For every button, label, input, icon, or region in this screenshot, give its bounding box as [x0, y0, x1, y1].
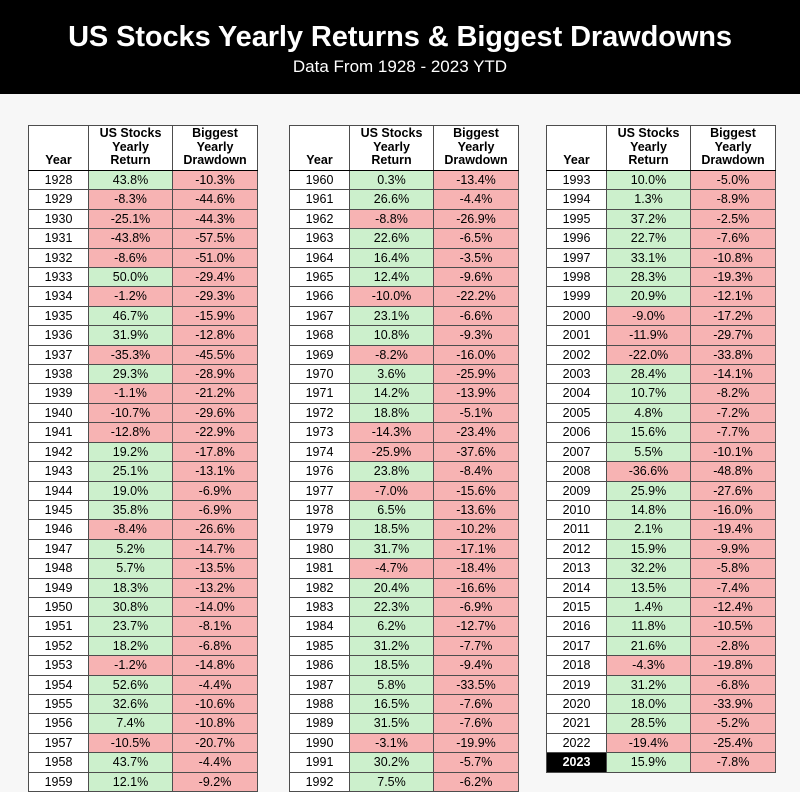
column-header-return: US Stocks Yearly Return: [350, 126, 434, 171]
tables-area: Year US Stocks Yearly Return Biggest Yea…: [0, 94, 800, 768]
cell-yearly-return: -36.6%: [607, 462, 691, 481]
page-subtitle: Data From 1928 - 2023 YTD: [293, 58, 507, 77]
cell-yearly-return: -1.2%: [89, 656, 173, 675]
cell-yearly-return: 30.8%: [89, 597, 173, 616]
table-row: 1941-12.8%-22.9%: [29, 423, 258, 442]
cell-biggest-drawdown: -29.3%: [173, 287, 258, 306]
table-row: 1953-1.2%-14.8%: [29, 656, 258, 675]
cell-biggest-drawdown: -57.5%: [173, 229, 258, 248]
cell-yearly-return: 43.8%: [89, 171, 173, 190]
table-row: 1931-43.8%-57.5%: [29, 229, 258, 248]
cell-year: 1954: [29, 675, 89, 694]
table-row: 19567.4%-10.8%: [29, 714, 258, 733]
table-row: 199920.9%-12.1%: [547, 287, 776, 306]
table-row: 194325.1%-13.1%: [29, 462, 258, 481]
column-header-drawdown-line3: Drawdown: [183, 153, 246, 167]
returns-table-panel-2: Year US Stocks Yearly Return Biggest Yea…: [546, 125, 776, 773]
cell-yearly-return: 23.8%: [350, 462, 434, 481]
table-row: 194219.2%-17.8%: [29, 442, 258, 461]
cell-biggest-drawdown: -14.1%: [691, 365, 776, 384]
table-row: 200328.4%-14.1%: [547, 365, 776, 384]
cell-yearly-return: -11.9%: [607, 326, 691, 345]
cell-biggest-drawdown: -12.8%: [173, 326, 258, 345]
cell-yearly-return: -8.6%: [89, 248, 173, 267]
cell-biggest-drawdown: -6.9%: [173, 481, 258, 500]
cell-yearly-return: 28.4%: [607, 365, 691, 384]
cell-biggest-drawdown: -5.0%: [691, 171, 776, 190]
cell-yearly-return: 18.3%: [89, 578, 173, 597]
cell-yearly-return: 1.3%: [607, 190, 691, 209]
cell-biggest-drawdown: -8.9%: [691, 190, 776, 209]
column-header-return-line3: Return: [628, 153, 668, 167]
cell-year: 1933: [29, 268, 89, 287]
table-row: 19703.6%-25.9%: [290, 365, 519, 384]
cell-year: 1937: [29, 345, 89, 364]
cell-year: 1956: [29, 714, 89, 733]
cell-yearly-return: 12.1%: [89, 772, 173, 791]
cell-year: 1947: [29, 539, 89, 558]
table-row: 194918.3%-13.2%: [29, 578, 258, 597]
cell-year: 1930: [29, 209, 89, 228]
table-row: 19875.8%-33.5%: [290, 675, 519, 694]
cell-yearly-return: 14.8%: [607, 500, 691, 519]
cell-biggest-drawdown: -25.4%: [691, 733, 776, 752]
cell-yearly-return: 16.5%: [350, 694, 434, 713]
cell-biggest-drawdown: -2.5%: [691, 209, 776, 228]
cell-biggest-drawdown: -10.8%: [173, 714, 258, 733]
table-row: 193546.7%-15.9%: [29, 306, 258, 325]
cell-yearly-return: 52.6%: [89, 675, 173, 694]
cell-year: 2001: [547, 326, 607, 345]
cell-yearly-return: 28.5%: [607, 714, 691, 733]
cell-biggest-drawdown: -17.8%: [173, 442, 258, 461]
returns-table-body-1: 19600.3%-13.4%196126.6%-4.4%1962-8.8%-26…: [290, 171, 519, 792]
cell-year: 1950: [29, 597, 89, 616]
cell-year: 1987: [290, 675, 350, 694]
cell-biggest-drawdown: -9.6%: [434, 268, 519, 287]
column-header-year: Year: [290, 126, 350, 171]
cell-year: 1966: [290, 287, 350, 306]
cell-year: 1972: [290, 403, 350, 422]
cell-biggest-drawdown: -21.2%: [173, 384, 258, 403]
cell-year: 1940: [29, 403, 89, 422]
cell-yearly-return: 0.3%: [350, 171, 434, 190]
cell-biggest-drawdown: -10.2%: [434, 520, 519, 539]
cell-biggest-drawdown: -17.1%: [434, 539, 519, 558]
cell-biggest-drawdown: -5.8%: [691, 559, 776, 578]
cell-biggest-drawdown: -4.4%: [434, 190, 519, 209]
cell-yearly-return: 16.4%: [350, 248, 434, 267]
cell-year: 1938: [29, 365, 89, 384]
cell-year: 2002: [547, 345, 607, 364]
cell-yearly-return: 7.4%: [89, 714, 173, 733]
cell-year: 1989: [290, 714, 350, 733]
table-row: 19927.5%-6.2%: [290, 772, 519, 791]
column-header-return: US Stocks Yearly Return: [607, 126, 691, 171]
cell-biggest-drawdown: -5.1%: [434, 403, 519, 422]
table-header-row: Year US Stocks Yearly Return Biggest Yea…: [547, 126, 776, 171]
table-row: 1966-10.0%-22.2%: [290, 287, 519, 306]
cell-year: 2015: [547, 597, 607, 616]
cell-biggest-drawdown: -4.4%: [173, 675, 258, 694]
table-row: 19846.2%-12.7%: [290, 617, 519, 636]
table-row: 199310.0%-5.0%: [547, 171, 776, 190]
table-row: 196126.6%-4.4%: [290, 190, 519, 209]
cell-yearly-return: 32.2%: [607, 559, 691, 578]
table-header-row: Year US Stocks Yearly Return Biggest Yea…: [29, 126, 258, 171]
cell-yearly-return: -10.7%: [89, 403, 173, 422]
cell-year: 1955: [29, 694, 89, 713]
cell-biggest-drawdown: -19.3%: [691, 268, 776, 287]
table-row: 199828.3%-19.3%: [547, 268, 776, 287]
cell-year: 1967: [290, 306, 350, 325]
table-row: 20054.8%-7.2%: [547, 403, 776, 422]
cell-year: 1976: [290, 462, 350, 481]
cell-year: 1946: [29, 520, 89, 539]
cell-biggest-drawdown: -5.7%: [434, 753, 519, 772]
cell-year: 1945: [29, 500, 89, 519]
cell-biggest-drawdown: -29.4%: [173, 268, 258, 287]
cell-yearly-return: 30.2%: [350, 753, 434, 772]
cell-biggest-drawdown: -2.8%: [691, 636, 776, 655]
cell-biggest-drawdown: -29.6%: [173, 403, 258, 422]
title-banner: US Stocks Yearly Returns & Biggest Drawd…: [0, 0, 800, 94]
table-row: 201931.2%-6.8%: [547, 675, 776, 694]
cell-year: 2012: [547, 539, 607, 558]
cell-biggest-drawdown: -5.2%: [691, 714, 776, 733]
cell-biggest-drawdown: -8.4%: [434, 462, 519, 481]
cell-year: 1982: [290, 578, 350, 597]
cell-biggest-drawdown: -13.1%: [173, 462, 258, 481]
cell-year: 1999: [547, 287, 607, 306]
table-row: 201413.5%-7.4%: [547, 578, 776, 597]
table-row: 1937-35.3%-45.5%: [29, 345, 258, 364]
table-row: 198618.5%-9.4%: [290, 656, 519, 675]
table-row: 1940-10.7%-29.6%: [29, 403, 258, 422]
cell-year: 1932: [29, 248, 89, 267]
table-row: 201611.8%-10.5%: [547, 617, 776, 636]
table-row: 201215.9%-9.9%: [547, 539, 776, 558]
cell-yearly-return: 20.4%: [350, 578, 434, 597]
returns-table-body-0: 192843.8%-10.3%1929-8.3%-44.6%1930-25.1%…: [29, 171, 258, 792]
cell-biggest-drawdown: -12.1%: [691, 287, 776, 306]
cell-yearly-return: 50.0%: [89, 268, 173, 287]
cell-year: 1978: [290, 500, 350, 519]
cell-biggest-drawdown: -6.5%: [434, 229, 519, 248]
table-row: 195843.7%-4.4%: [29, 753, 258, 772]
cell-yearly-return: -8.3%: [89, 190, 173, 209]
cell-biggest-drawdown: -7.2%: [691, 403, 776, 422]
cell-yearly-return: 43.7%: [89, 753, 173, 772]
cell-biggest-drawdown: -10.1%: [691, 442, 776, 461]
cell-biggest-drawdown: -10.3%: [173, 171, 258, 190]
cell-biggest-drawdown: -6.8%: [173, 636, 258, 655]
table-row: 1981-4.7%-18.4%: [290, 559, 519, 578]
cell-yearly-return: 1.4%: [607, 597, 691, 616]
cell-year: 1928: [29, 171, 89, 190]
table-row: 1962-8.8%-26.9%: [290, 209, 519, 228]
column-header-year-label: Year: [306, 153, 332, 167]
cell-yearly-return: -14.3%: [350, 423, 434, 442]
table-row: 2000-9.0%-17.2%: [547, 306, 776, 325]
cell-yearly-return: -19.4%: [607, 733, 691, 752]
table-row: 196322.6%-6.5%: [290, 229, 519, 248]
cell-yearly-return: 13.5%: [607, 578, 691, 597]
table-row: 195218.2%-6.8%: [29, 636, 258, 655]
table-row: 197918.5%-10.2%: [290, 520, 519, 539]
cell-year: 2011: [547, 520, 607, 539]
cell-biggest-drawdown: -6.8%: [691, 675, 776, 694]
cell-biggest-drawdown: -6.6%: [434, 306, 519, 325]
cell-year: 1929: [29, 190, 89, 209]
cell-year: 1988: [290, 694, 350, 713]
table-row: 195123.7%-8.1%: [29, 617, 258, 636]
cell-year: 1985: [290, 636, 350, 655]
cell-yearly-return: -25.1%: [89, 209, 173, 228]
cell-yearly-return: -1.2%: [89, 287, 173, 306]
cell-biggest-drawdown: -13.2%: [173, 578, 258, 597]
cell-biggest-drawdown: -14.7%: [173, 539, 258, 558]
cell-year: 2007: [547, 442, 607, 461]
cell-year: 1969: [290, 345, 350, 364]
table-row: 1957-10.5%-20.7%: [29, 733, 258, 752]
cell-yearly-return: -3.1%: [350, 733, 434, 752]
cell-yearly-return: 18.5%: [350, 656, 434, 675]
table-row: 198816.5%-7.6%: [290, 694, 519, 713]
cell-biggest-drawdown: -7.6%: [434, 694, 519, 713]
cell-biggest-drawdown: -22.2%: [434, 287, 519, 306]
cell-yearly-return: -7.0%: [350, 481, 434, 500]
cell-year: 2004: [547, 384, 607, 403]
cell-yearly-return: 32.6%: [89, 694, 173, 713]
table-row: 198531.2%-7.7%: [290, 636, 519, 655]
cell-biggest-drawdown: -13.6%: [434, 500, 519, 519]
cell-biggest-drawdown: -4.4%: [173, 753, 258, 772]
cell-yearly-return: -4.3%: [607, 656, 691, 675]
cell-biggest-drawdown: -29.7%: [691, 326, 776, 345]
cell-biggest-drawdown: -16.0%: [691, 500, 776, 519]
cell-yearly-return: 28.3%: [607, 268, 691, 287]
cell-yearly-return: 5.5%: [607, 442, 691, 461]
cell-year: 1939: [29, 384, 89, 403]
table-row: 197623.8%-8.4%: [290, 462, 519, 481]
table-row: 19600.3%-13.4%: [290, 171, 519, 190]
cell-biggest-drawdown: -13.4%: [434, 171, 519, 190]
cell-yearly-return: 25.9%: [607, 481, 691, 500]
cell-year: 2021: [547, 714, 607, 733]
cell-yearly-return: 22.6%: [350, 229, 434, 248]
cell-year: 1970: [290, 365, 350, 384]
cell-yearly-return: 33.1%: [607, 248, 691, 267]
cell-yearly-return: 5.8%: [350, 675, 434, 694]
cell-year: 1974: [290, 442, 350, 461]
cell-biggest-drawdown: -17.2%: [691, 306, 776, 325]
cell-biggest-drawdown: -37.6%: [434, 442, 519, 461]
table-row: 19941.3%-8.9%: [547, 190, 776, 209]
table-row: 2001-11.9%-29.7%: [547, 326, 776, 345]
table-row: 20075.5%-10.1%: [547, 442, 776, 461]
table-row: 19475.2%-14.7%: [29, 539, 258, 558]
cell-year: 2019: [547, 675, 607, 694]
cell-yearly-return: -12.8%: [89, 423, 173, 442]
cell-year: 1962: [290, 209, 350, 228]
table-row: 195912.1%-9.2%: [29, 772, 258, 791]
cell-biggest-drawdown: -22.9%: [173, 423, 258, 442]
cell-biggest-drawdown: -26.6%: [173, 520, 258, 539]
table-row: 200925.9%-27.6%: [547, 481, 776, 500]
table-row: 197114.2%-13.9%: [290, 384, 519, 403]
returns-table-2: Year US Stocks Yearly Return Biggest Yea…: [546, 125, 776, 773]
table-row: 2018-4.3%-19.8%: [547, 656, 776, 675]
cell-biggest-drawdown: -6.2%: [434, 772, 519, 791]
table-row: 200615.6%-7.7%: [547, 423, 776, 442]
cell-year: 1959: [29, 772, 89, 791]
cell-biggest-drawdown: -10.5%: [691, 617, 776, 636]
cell-year: 1943: [29, 462, 89, 481]
cell-year: 1935: [29, 306, 89, 325]
cell-biggest-drawdown: -6.9%: [173, 500, 258, 519]
cell-biggest-drawdown: -13.9%: [434, 384, 519, 403]
cell-biggest-drawdown: -13.5%: [173, 559, 258, 578]
column-header-drawdown-line1: Biggest: [453, 126, 499, 140]
cell-year: 1991: [290, 753, 350, 772]
cell-biggest-drawdown: -7.7%: [691, 423, 776, 442]
cell-biggest-drawdown: -7.6%: [691, 229, 776, 248]
cell-year: 1961: [290, 190, 350, 209]
table-row: 198031.7%-17.1%: [290, 539, 519, 558]
cell-biggest-drawdown: -27.6%: [691, 481, 776, 500]
table-header-row: Year US Stocks Yearly Return Biggest Yea…: [290, 126, 519, 171]
cell-biggest-drawdown: -14.8%: [173, 656, 258, 675]
cell-year: 2020: [547, 694, 607, 713]
table-row: 198220.4%-16.6%: [290, 578, 519, 597]
cell-biggest-drawdown: -25.9%: [434, 365, 519, 384]
cell-biggest-drawdown: -7.6%: [434, 714, 519, 733]
column-header-return-line2: Yearly: [630, 140, 667, 154]
cell-yearly-return: 18.0%: [607, 694, 691, 713]
cell-year: 2013: [547, 559, 607, 578]
cell-year: 1936: [29, 326, 89, 345]
cell-biggest-drawdown: -15.9%: [173, 306, 258, 325]
cell-biggest-drawdown: -12.7%: [434, 617, 519, 636]
column-header-year: Year: [29, 126, 89, 171]
table-row: 1973-14.3%-23.4%: [290, 423, 519, 442]
cell-year: 1968: [290, 326, 350, 345]
cell-biggest-drawdown: -9.4%: [434, 656, 519, 675]
cell-yearly-return: 2.1%: [607, 520, 691, 539]
cell-year: 1958: [29, 753, 89, 772]
column-header-return: US Stocks Yearly Return: [89, 126, 173, 171]
table-row: 199733.1%-10.8%: [547, 248, 776, 267]
cell-yearly-return: -35.3%: [89, 345, 173, 364]
column-header-return-line1: US Stocks: [100, 126, 162, 140]
cell-biggest-drawdown: -16.6%: [434, 578, 519, 597]
cell-year: 2016: [547, 617, 607, 636]
table-row: 200410.7%-8.2%: [547, 384, 776, 403]
cell-biggest-drawdown: -10.6%: [173, 694, 258, 713]
table-row: 198931.5%-7.6%: [290, 714, 519, 733]
cell-yearly-return: 7.5%: [350, 772, 434, 791]
cell-yearly-return: 4.8%: [607, 403, 691, 422]
column-header-drawdown-line2: Yearly: [715, 140, 752, 154]
cell-biggest-drawdown: -19.9%: [434, 733, 519, 752]
table-row: 193829.3%-28.9%: [29, 365, 258, 384]
cell-biggest-drawdown: -3.5%: [434, 248, 519, 267]
cell-yearly-return: 3.6%: [350, 365, 434, 384]
table-row: 199622.7%-7.6%: [547, 229, 776, 248]
cell-yearly-return: 10.0%: [607, 171, 691, 190]
cell-yearly-return: 31.7%: [350, 539, 434, 558]
table-row: 2022-19.4%-25.4%: [547, 733, 776, 752]
cell-year: 2017: [547, 636, 607, 655]
cell-biggest-drawdown: -8.2%: [691, 384, 776, 403]
cell-yearly-return: 10.7%: [607, 384, 691, 403]
cell-yearly-return: -1.1%: [89, 384, 173, 403]
cell-biggest-drawdown: -8.1%: [173, 617, 258, 636]
table-row: 1939-1.1%-21.2%: [29, 384, 258, 403]
cell-year: 1951: [29, 617, 89, 636]
column-header-return-line3: Return: [371, 153, 411, 167]
cell-year: 2018: [547, 656, 607, 675]
cell-biggest-drawdown: -48.8%: [691, 462, 776, 481]
returns-table-body-2: 199310.0%-5.0%19941.3%-8.9%199537.2%-2.5…: [547, 171, 776, 773]
cell-year: 1997: [547, 248, 607, 267]
table-row: 2008-36.6%-48.8%: [547, 462, 776, 481]
cell-year: 1986: [290, 656, 350, 675]
cell-year: 2003: [547, 365, 607, 384]
cell-year-highlighted: 2023: [547, 753, 607, 772]
cell-yearly-return: 5.2%: [89, 539, 173, 558]
cell-year: 1957: [29, 733, 89, 752]
cell-year: 1941: [29, 423, 89, 442]
cell-yearly-return: -25.9%: [350, 442, 434, 461]
cell-yearly-return: 19.2%: [89, 442, 173, 461]
column-header-return-line1: US Stocks: [361, 126, 423, 140]
cell-yearly-return: -10.5%: [89, 733, 173, 752]
column-header-year-label: Year: [563, 153, 589, 167]
cell-year: 2006: [547, 423, 607, 442]
table-row: 196416.4%-3.5%: [290, 248, 519, 267]
table-row: 197218.8%-5.1%: [290, 403, 519, 422]
cell-yearly-return: 6.5%: [350, 500, 434, 519]
cell-year: 1981: [290, 559, 350, 578]
cell-yearly-return: -8.8%: [350, 209, 434, 228]
cell-yearly-return: 18.2%: [89, 636, 173, 655]
column-header-return-line2: Yearly: [373, 140, 410, 154]
table-row: 1974-25.9%-37.6%: [290, 442, 519, 461]
table-row: 19786.5%-13.6%: [290, 500, 519, 519]
column-header-return-line3: Return: [110, 153, 150, 167]
table-row: 1969-8.2%-16.0%: [290, 345, 519, 364]
cell-yearly-return: 5.7%: [89, 559, 173, 578]
cell-yearly-return: -4.7%: [350, 559, 434, 578]
table-row: 194535.8%-6.9%: [29, 500, 258, 519]
table-row: 192843.8%-10.3%: [29, 171, 258, 190]
table-row: 1932-8.6%-51.0%: [29, 248, 258, 267]
cell-yearly-return: 15.6%: [607, 423, 691, 442]
column-header-drawdown-line3: Drawdown: [701, 153, 764, 167]
cell-biggest-drawdown: -16.0%: [434, 345, 519, 364]
column-header-drawdown: Biggest Yearly Drawdown: [691, 126, 776, 171]
page-title: US Stocks Yearly Returns & Biggest Drawd…: [68, 22, 732, 53]
returns-table-1: Year US Stocks Yearly Return Biggest Yea…: [289, 125, 519, 792]
table-row: 1977-7.0%-15.6%: [290, 481, 519, 500]
cell-yearly-return: 21.6%: [607, 636, 691, 655]
cell-yearly-return: 12.4%: [350, 268, 434, 287]
table-row: 1934-1.2%-29.3%: [29, 287, 258, 306]
cell-biggest-drawdown: -23.4%: [434, 423, 519, 442]
cell-yearly-return: 10.8%: [350, 326, 434, 345]
